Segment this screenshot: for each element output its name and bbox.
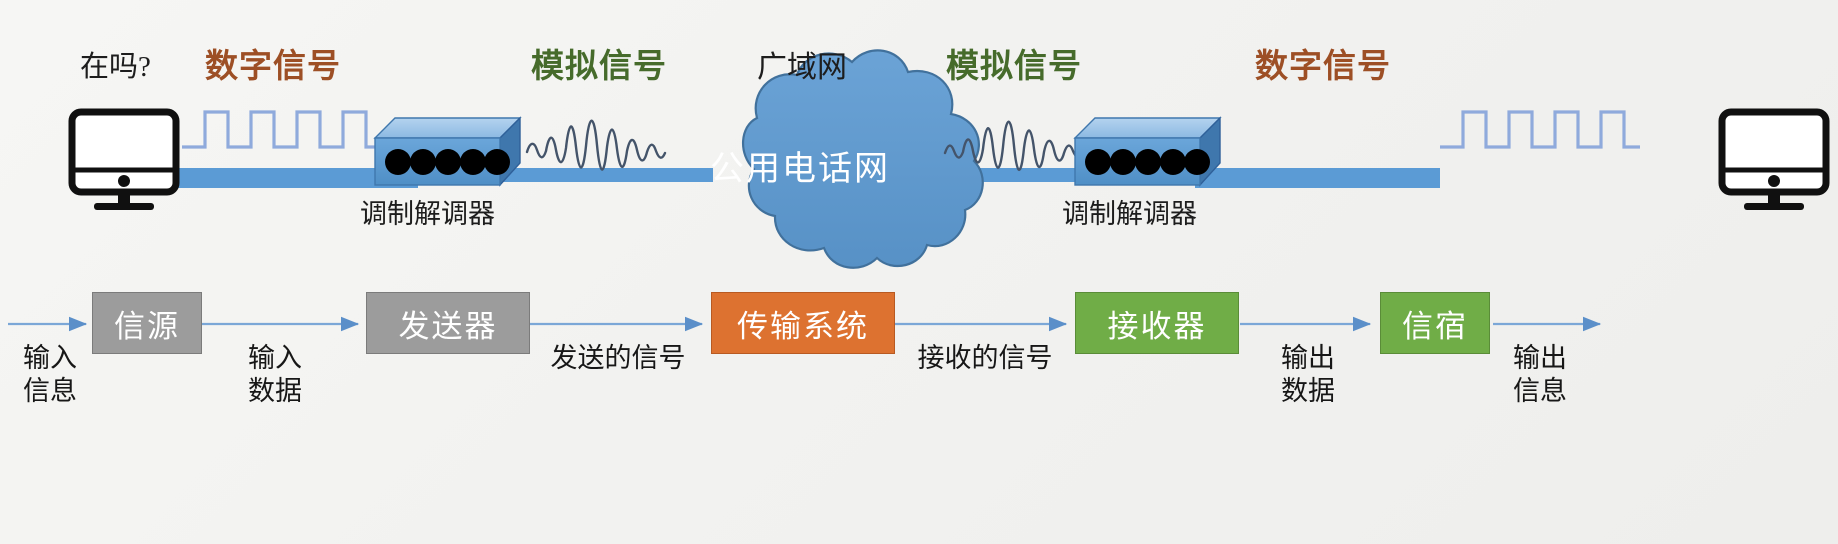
flow-caption-input-data: 输入 数据 — [235, 342, 315, 408]
label-analog-signal-right: 模拟信号 — [946, 50, 1082, 85]
flow-caption-output-information: 输出 信息 — [1500, 342, 1580, 408]
modem-label-right: 调制解调器 — [1062, 200, 1197, 228]
flow-box-receiver-label: 接收器 — [1108, 301, 1207, 346]
ask-text-label: 在吗? — [80, 52, 151, 82]
modem-ports-left — [385, 149, 510, 175]
left-computer-icon — [72, 112, 176, 210]
flow-caption-received-signal: 接收的信号 — [905, 342, 1065, 375]
flow-caption-sent-signal: 发送的信号 — [538, 342, 698, 375]
flow-box-transmitter[interactable]: 发送器 — [366, 292, 530, 354]
analog-waveform-left — [527, 121, 665, 170]
flow-box-source-label: 信源 — [114, 301, 180, 346]
right-computer-icon — [1722, 112, 1826, 210]
flow-box-transmitter-label: 发送器 — [399, 301, 498, 346]
modem-ports-right — [1085, 149, 1210, 175]
label-wide-area-network: 广域网 — [757, 52, 847, 84]
flow-box-receiver[interactable]: 接收器 — [1075, 292, 1239, 354]
digital-waveform-right — [1440, 112, 1640, 147]
flow-box-transmission-system[interactable]: 传输系统 — [711, 292, 895, 354]
right-modem-icon — [1075, 118, 1220, 185]
flow-box-transmission-system-label: 传输系统 — [737, 301, 869, 346]
flow-box-source[interactable]: 信源 — [92, 292, 202, 354]
cloud-label-pstn: 公用电话网 — [710, 152, 890, 188]
modem-label-left: 调制解调器 — [360, 200, 495, 228]
label-digital-signal-left: 数字信号 — [205, 50, 341, 85]
flow-box-destination-label: 信宿 — [1402, 301, 1468, 346]
flow-box-destination[interactable]: 信宿 — [1380, 292, 1490, 354]
label-analog-signal-left: 模拟信号 — [531, 50, 667, 85]
flow-caption-output-data: 输出 数据 — [1268, 342, 1348, 408]
top-scene-artwork — [0, 0, 1838, 300]
flow-caption-input-information: 输入 信息 — [10, 342, 90, 408]
left-modem-icon — [375, 118, 520, 185]
diagram-canvas: 在吗? 数字信号 模拟信号 广域网 模拟信号 数字信号 公用电话网 调制解调器 … — [0, 0, 1838, 544]
label-digital-signal-right: 数字信号 — [1255, 50, 1391, 85]
digital-waveform-left — [182, 112, 380, 147]
